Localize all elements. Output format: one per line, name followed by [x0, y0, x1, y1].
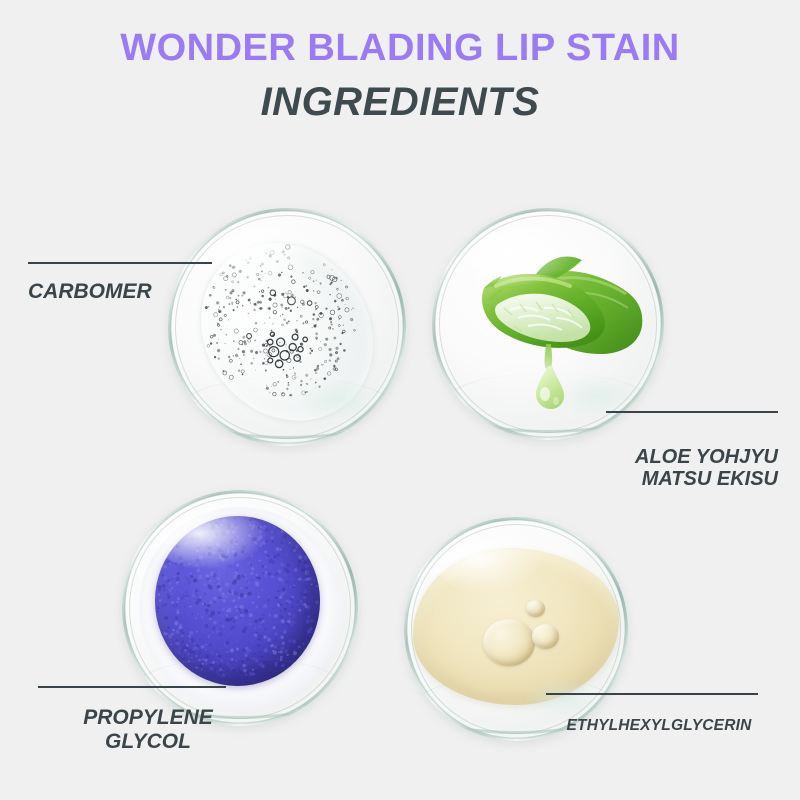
- label-leader-line: [606, 411, 778, 413]
- label-ethylhexylglycerin: ETHYLHEXYLGLYCERIN: [546, 693, 772, 734]
- page-title: WONDER BLADING LIP STAIN: [0, 29, 800, 67]
- petri-dish-carbomer: [168, 208, 406, 446]
- dish-glass-body: [432, 208, 664, 440]
- carbomer-gel-blob: [168, 209, 406, 446]
- label-propylene-glycol: PROPYLENE GLYCOL: [38, 686, 258, 753]
- header-banner: WONDER BLADING LIP STAIN INGREDIENTS: [0, 0, 800, 145]
- gel-bubbles-icon: [168, 209, 393, 436]
- label-carbomer: CARBOMER: [28, 262, 258, 304]
- label-carbomer-text: CARBOMER: [28, 280, 258, 304]
- label-leader-line: [28, 262, 212, 264]
- label-aloe-text: ALOE YOHJYU MATSU EKISU: [600, 446, 778, 491]
- label-ethylhexylglycerin-text: ETHYLHEXYLGLYCERIN: [546, 717, 772, 734]
- cream-liquid-blob: [413, 548, 619, 705]
- dish-glass-body: [168, 208, 406, 446]
- label-leader-line: [546, 693, 758, 695]
- label-leader-line: [38, 686, 226, 688]
- label-aloe: ALOE YOHJYU MATSU EKISU: [600, 411, 778, 491]
- petri-dish-aloe: [432, 208, 664, 440]
- aloe-vera-icon: [432, 208, 664, 440]
- blue-powder-mound: [155, 516, 320, 686]
- powder-grain-texture-icon: [155, 516, 320, 681]
- cream-bubble-large: [483, 619, 535, 666]
- cream-bubble-medium: [532, 624, 559, 649]
- label-propylene-glycol-text: PROPYLENE GLYCOL: [38, 706, 258, 753]
- cream-bubble-small: [526, 600, 545, 617]
- page-subtitle: INGREDIENTS: [0, 82, 800, 122]
